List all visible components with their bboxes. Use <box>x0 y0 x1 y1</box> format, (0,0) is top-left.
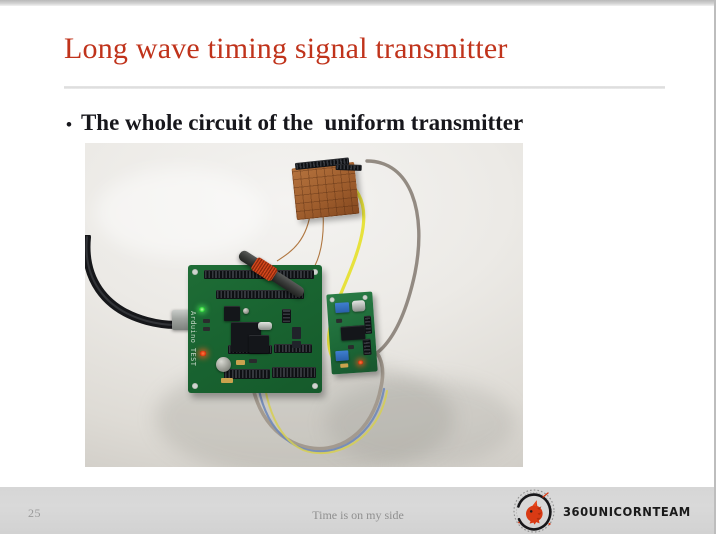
status-led <box>199 307 205 312</box>
bullet-list-item: • The whole circuit of the uniform trans… <box>66 108 676 140</box>
brand-logo: 360UNICORNTEAM <box>512 489 702 533</box>
title-divider <box>64 86 665 89</box>
board-silkscreen-label: Arduino TEST <box>189 311 197 366</box>
perfboard <box>291 162 359 220</box>
presentation-slide: Long wave timing signal transmitter • Th… <box>0 0 716 534</box>
receiver-module <box>326 291 377 374</box>
slide-top-band <box>0 0 716 6</box>
brand-name-label: 360UNICORNTEAM <box>563 504 691 519</box>
bullet-point-icon: • <box>66 110 72 140</box>
photo-shadow <box>325 378 515 467</box>
bullet-item-label: The whole circuit of the uniform transmi… <box>81 108 523 138</box>
circuit-photo: Arduino TEST <box>85 143 523 467</box>
unicorn-emblem-icon <box>512 489 556 533</box>
page-title: Long wave timing signal transmitter <box>64 31 664 67</box>
power-led <box>200 351 206 356</box>
